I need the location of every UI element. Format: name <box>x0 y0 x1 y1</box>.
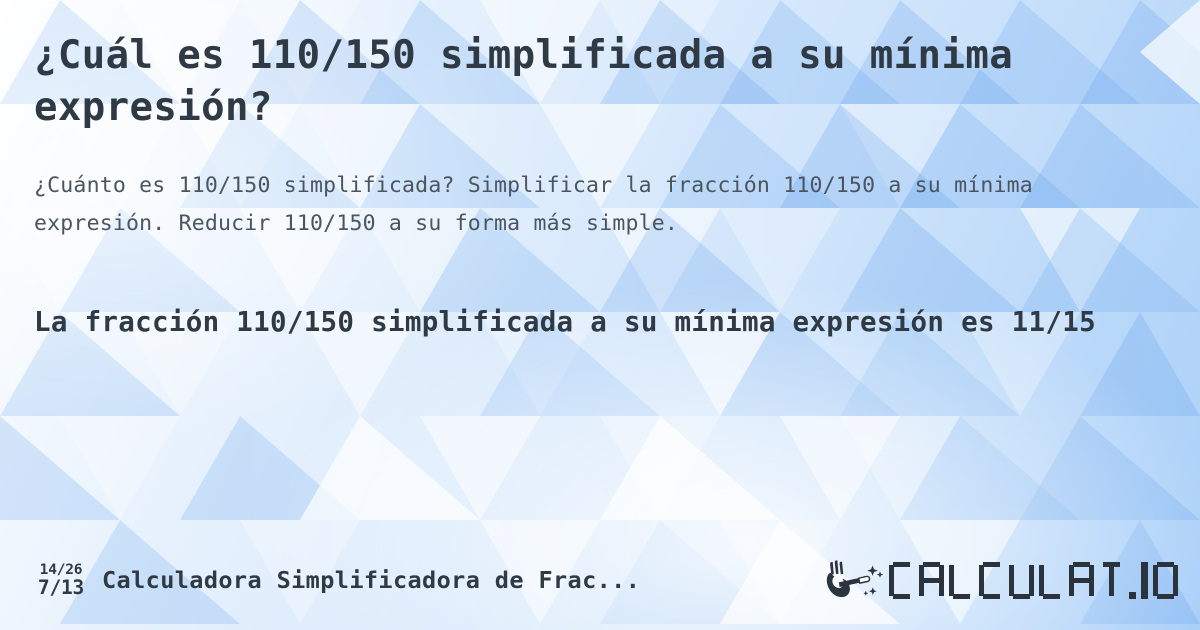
brand-logo[interactable] <box>825 558 1178 602</box>
brand-wordmark <box>889 562 1178 599</box>
lcd-char-t <box>1099 562 1124 599</box>
lcd-char-l1 <box>949 562 974 599</box>
hand-magic-wand-icon <box>825 558 885 602</box>
answer-statement: La fracción 110/150 simplificada a su mí… <box>34 299 1114 346</box>
fraction-icon-bottom: 7/13 <box>38 578 84 598</box>
lcd-char-u <box>1009 562 1034 599</box>
page-title: ¿Cuál es 110/150 simplificada a su mínim… <box>34 30 1094 134</box>
page-subtitle: ¿Cuánto es 110/150 simplificada? Simplif… <box>34 167 1129 243</box>
content-area: ¿Cuál es 110/150 simplificada a su mínim… <box>0 0 1200 630</box>
lcd-char-c2 <box>979 562 1004 599</box>
site-name: Calculadora Simplificadora de Frac... <box>102 566 640 594</box>
footer-left-group: 14/26 7/13 Calculadora Simplificadora de… <box>34 563 640 598</box>
lcd-char-i <box>1141 562 1148 599</box>
lcd-char-l2 <box>1039 562 1064 599</box>
fraction-reduce-icon: 14/26 7/13 <box>34 563 88 598</box>
lcd-char-a1 <box>919 562 944 599</box>
lcd-char-a2 <box>1069 562 1094 599</box>
og-image-card: ¿Cuál es 110/150 simplificada a su mínim… <box>0 0 1200 630</box>
lcd-char-c1 <box>889 562 914 599</box>
fraction-icon-top: 14/26 <box>40 563 83 578</box>
footer: 14/26 7/13 Calculadora Simplificadora de… <box>34 556 1178 604</box>
lcd-char-o <box>1153 562 1178 599</box>
lcd-char-dot <box>1129 562 1136 599</box>
